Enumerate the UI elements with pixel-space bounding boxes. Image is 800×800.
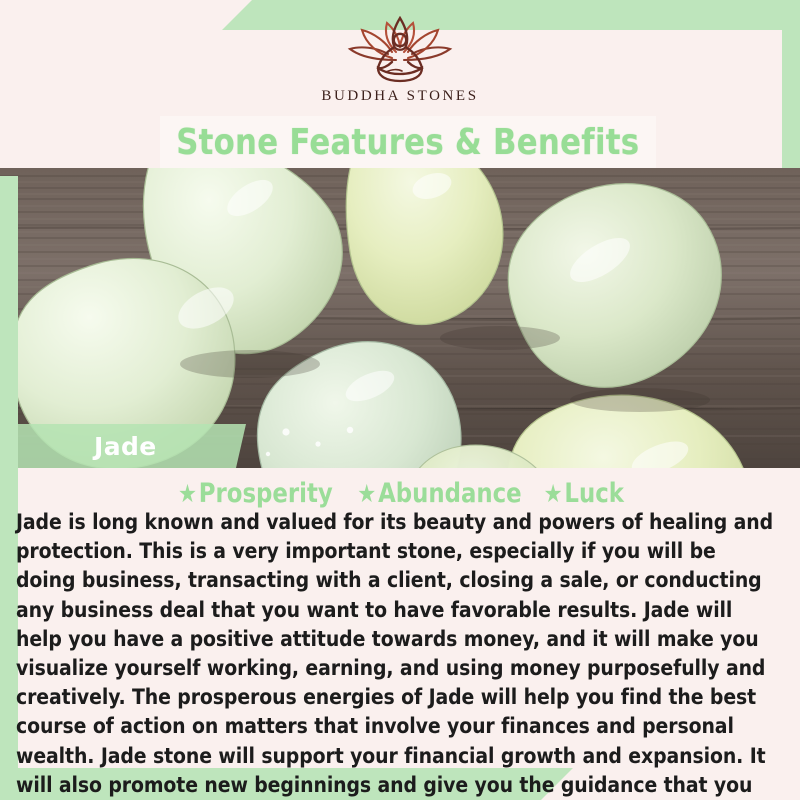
brand-name: BUDDHA STONES <box>321 88 478 105</box>
benefit-label: Luck <box>564 478 624 509</box>
stone-name-badge: Jade <box>18 424 246 468</box>
benefit-label: Prosperity <box>199 478 333 509</box>
star-icon: ★ <box>357 479 376 508</box>
benefit-label: Abundance <box>378 478 522 509</box>
benefit-abundance: ★Abundance <box>357 478 521 509</box>
stone-photo <box>0 168 800 468</box>
title-banner: Stone Features & Benefits <box>160 116 656 168</box>
lotus-meditation-icon <box>334 16 466 84</box>
star-icon: ★ <box>544 479 563 508</box>
benefit-prosperity: ★Prosperity <box>178 478 333 509</box>
benefits-row: ★Prosperity★Abundance★Luck <box>0 478 800 509</box>
description-text: Jade is long known and valued for its be… <box>16 508 776 800</box>
stone-name-label: Jade <box>18 432 157 461</box>
benefit-luck: ★Luck <box>544 478 624 509</box>
stone-info-poster: BUDDHA STONES Stone Features & Benefits <box>0 0 800 800</box>
star-icon: ★ <box>178 479 197 508</box>
brand-logo: BUDDHA STONES <box>0 0 800 118</box>
page-title: Stone Features & Benefits <box>176 122 639 163</box>
stone-photo-illustration <box>0 168 800 468</box>
